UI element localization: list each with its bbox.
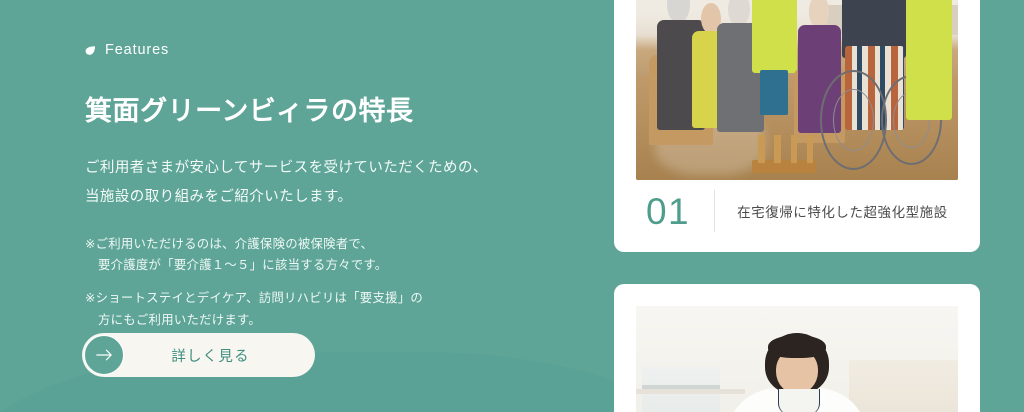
feature-card-01[interactable]: 01 在宅復帰に特化した超強化型施設 [614, 0, 980, 252]
group-activity-photo [636, 0, 958, 180]
feature-card-01-caption: 在宅復帰に特化した超強化型施設 [737, 201, 948, 221]
section-note-1: ※ご利用いただけるのは、介護保険の被保険者で、 要介護度が「要介護１〜５」に該当… [85, 234, 585, 277]
feature-card-02[interactable] [614, 284, 980, 412]
feature-card-01-footer: 01 在宅復帰に特化した超強化型施設 [614, 180, 980, 242]
divider [714, 190, 715, 232]
arrow-right-icon [84, 335, 124, 375]
section-note-2-line-1: ※ショートステイとデイケア、訪問リハビリは「要支援」の [85, 288, 585, 310]
leaf-icon [85, 45, 96, 56]
caregiver-portrait-photo [636, 306, 958, 412]
section-lead-line-2: 当施設の取り組みをご紹介いたします。 [85, 183, 585, 212]
section-eyebrow: Features [85, 42, 585, 58]
feature-card-01-number: 01 [646, 193, 690, 230]
section-note-2: ※ショートステイとデイケア、訪問リハビリは「要支援」の 方にもご利用いただけます… [85, 288, 585, 331]
section-note-1-line-2: 要介護度が「要介護１〜５」に該当する方々です。 [85, 255, 585, 277]
section-lead-line-1: ご利用者さまが安心してサービスを受けていただくための、 [85, 154, 585, 183]
section-note-2-line-2: 方にもご利用いただけます。 [85, 310, 585, 332]
section-note-1-line-1: ※ご利用いただけるのは、介護保険の被保険者で、 [85, 234, 585, 256]
features-text-column: Features 箕面グリーンビィラの特長 ご利用者さまが安心してサービスを受け… [85, 0, 585, 412]
feature-card-list: 01 在宅復帰に特化した超強化型施設 [614, 0, 980, 412]
page-title: 箕面グリーンビィラの特長 [85, 95, 585, 129]
features-section: Features 箕面グリーンビィラの特長 ご利用者さまが安心してサービスを受け… [0, 0, 1024, 412]
section-lead: ご利用者さまが安心してサービスを受けていただくための、 当施設の取り組みをご紹介… [85, 154, 585, 212]
read-more-button[interactable]: 詳しく見る [82, 333, 315, 377]
read-more-button-label: 詳しく見る [124, 345, 315, 366]
section-eyebrow-label: Features [105, 42, 169, 58]
section-notes: ※ご利用いただけるのは、介護保険の被保険者で、 要介護度が「要介護１〜５」に該当… [85, 234, 585, 332]
